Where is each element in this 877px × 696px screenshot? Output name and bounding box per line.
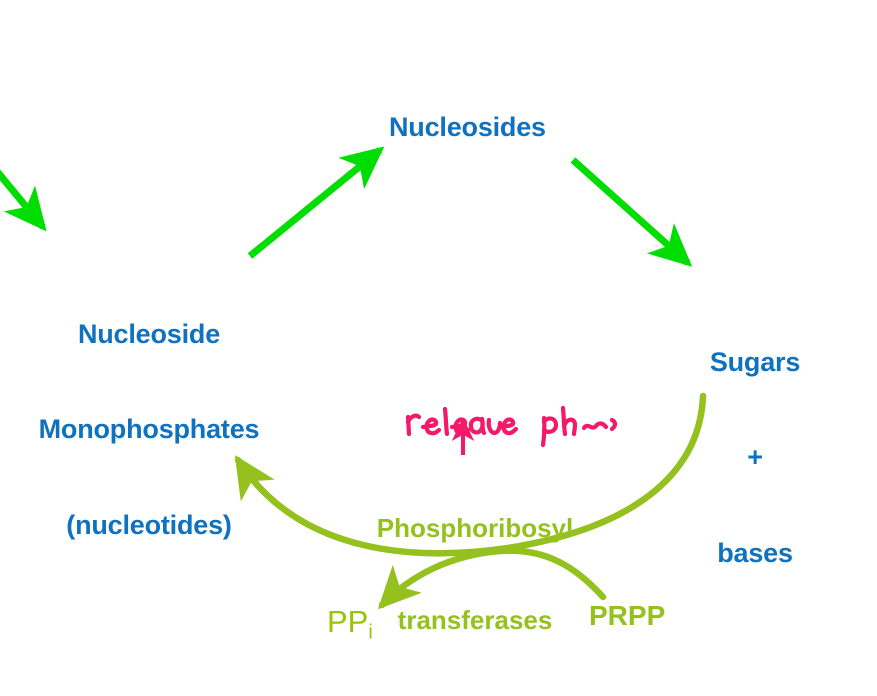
label-enzyme-line2: transferases: [330, 605, 620, 636]
label-bases: bases: [660, 538, 850, 570]
label-nucleosides: Nucleosides: [389, 112, 546, 144]
label-ppi-main: PP: [327, 604, 368, 639]
label-nucleoside-monophosphates: Nucleoside Monophosphates (nucleotides): [0, 255, 298, 574]
arrow-nucleosides-to-sugars-bases: [573, 160, 688, 263]
label-ppi: PPi: [327, 604, 373, 645]
label-sugars: Sugars: [660, 347, 850, 379]
label-nucleotides-line1: Nucleoside: [0, 319, 298, 351]
label-plus-sign: +: [660, 442, 850, 474]
label-ppi-subscript: i: [368, 621, 372, 643]
incoming-arrow-top-left: [0, 158, 43, 227]
label-phosphoribosyl-transferases: Phosphoribosyl transferases: [330, 452, 620, 667]
label-nucleotides-line3: (nucleotides): [0, 510, 298, 542]
handwritten-note-strokes: [403, 401, 618, 449]
label-enzyme-line1: Phosphoribosyl: [330, 513, 620, 544]
label-nucleotides-line2: Monophosphates: [0, 414, 298, 446]
handwritten-note: [403, 363, 618, 468]
label-sugars-plus-bases: Sugars + bases: [660, 283, 850, 602]
label-prpp: PRPP: [589, 599, 665, 632]
arrow-nucleotides-to-nucleosides: [250, 150, 380, 256]
